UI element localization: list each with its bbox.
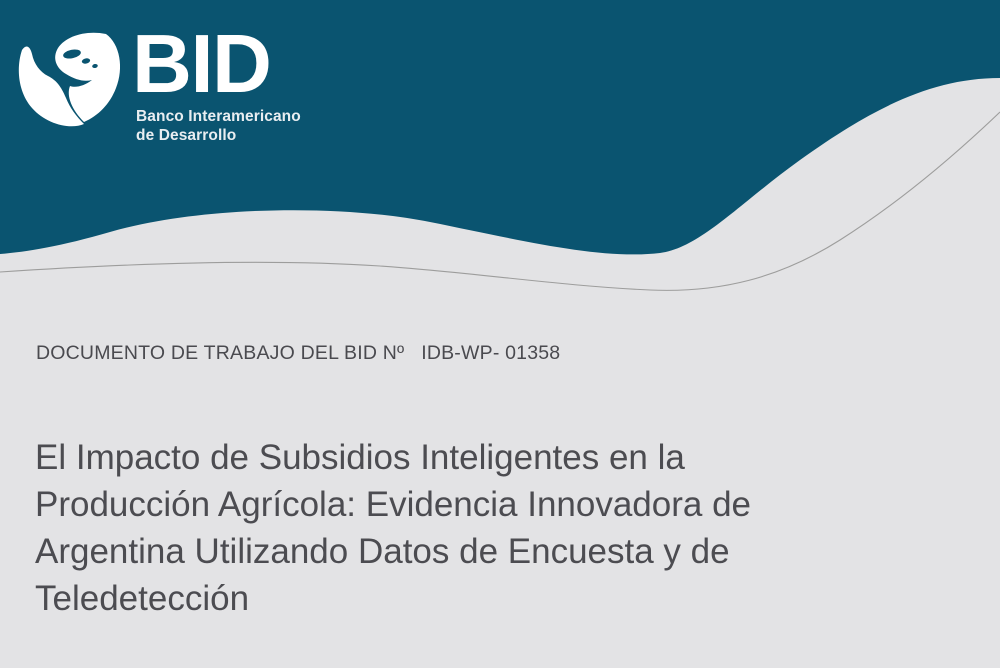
page-title-line-3: Argentina Utilizando Datos de Encuesta y… [35, 528, 915, 575]
page-title: El Impacto de Subsidios Inteligentes en … [35, 434, 915, 622]
logo-wordmark: BID [132, 26, 301, 102]
page-title-line-1: El Impacto de Subsidios Inteligentes en … [35, 434, 915, 481]
document-series-number: DOCUMENTO DE TRABAJO DEL BID Nº IDB-WP- … [36, 342, 560, 365]
idb-globe-logo-icon [14, 24, 130, 132]
idb-logo-lockup: BID Banco Interamericano de Desarrollo [14, 24, 301, 146]
logo-tagline-line-1: Banco Interamericano [136, 108, 301, 127]
cover-page: BID Banco Interamericano de Desarrollo D… [0, 0, 1000, 668]
page-title-line-2: Producción Agrícola: Evidencia Innovador… [35, 481, 915, 528]
logo-tagline-line-2: de Desarrollo [136, 127, 301, 146]
logo-text-block: BID Banco Interamericano de Desarrollo [132, 24, 301, 146]
logo-tagline: Banco Interamericano de Desarrollo [136, 108, 301, 146]
page-title-line-4: Teledetección [35, 575, 915, 622]
